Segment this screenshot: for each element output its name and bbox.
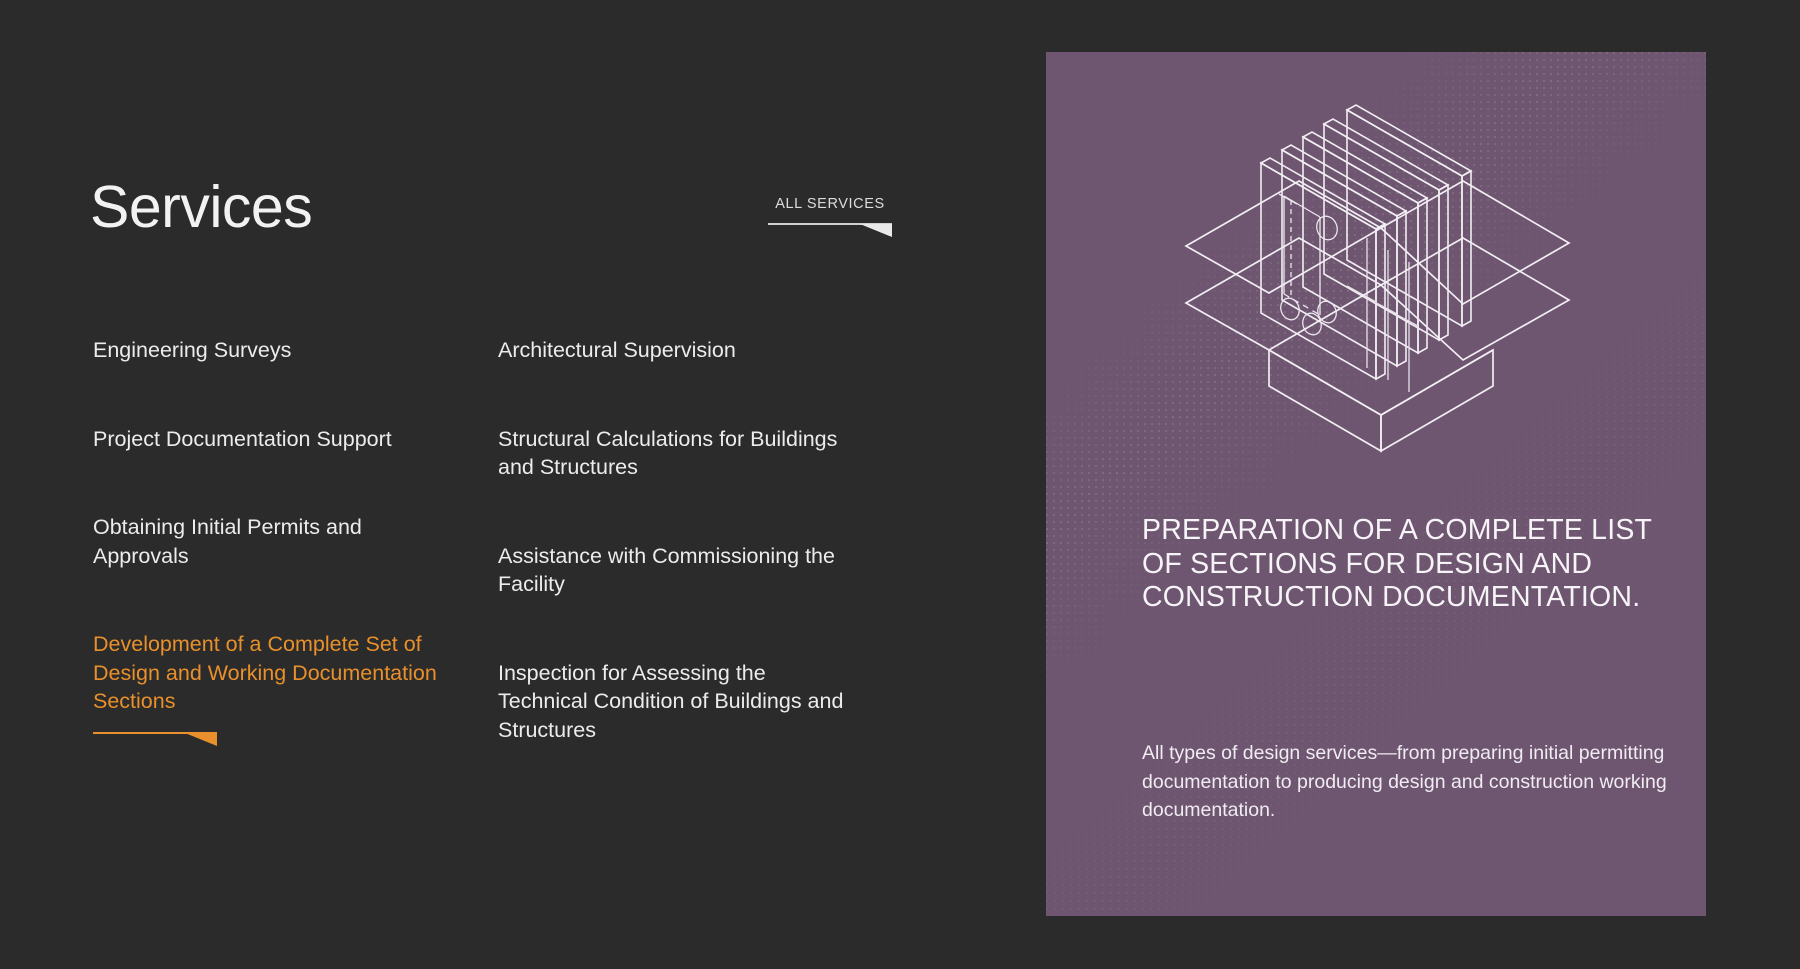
feature-panel: PREPARATION OF A COMPLETE LIST OF SECTIO… [1046,52,1706,916]
services-left-column: Engineering Surveys Project Documentatio… [93,336,498,806]
service-item-development-documentation-sections[interactable]: Development of a Complete Set of Design … [93,630,453,746]
service-label: Obtaining Initial Permits and Approvals [93,513,453,570]
service-label: Structural Calculations for Buildings an… [498,425,858,482]
service-label: Development of a Complete Set of Design … [93,630,453,716]
service-label: Architectural Supervision [498,336,858,365]
service-item-assistance-commissioning[interactable]: Assistance with Commissioning the Facili… [498,542,858,599]
service-item-inspection-technical-condition[interactable]: Inspection for Assessing the Technical C… [498,659,858,745]
service-item-structural-calculations[interactable]: Structural Calculations for Buildings an… [498,425,858,482]
service-item-project-documentation-support[interactable]: Project Documentation Support [93,425,453,454]
panel-heading: PREPARATION OF A COMPLETE LIST OF SECTIO… [1142,514,1687,615]
arrow-right-icon [768,223,892,237]
isometric-open-box-with-documents-icon [1181,68,1571,463]
service-item-engineering-surveys[interactable]: Engineering Surveys [93,336,453,365]
service-item-architectural-supervision[interactable]: Architectural Supervision [498,336,858,365]
active-arrow-right-icon [93,732,217,746]
all-services-label: ALL SERVICES [768,197,892,212]
slide-root: Services ALL SERVICES Engineering Survey… [0,0,1800,969]
service-item-obtaining-initial-permits[interactable]: Obtaining Initial Permits and Approvals [93,513,453,570]
services-list: Engineering Surveys Project Documentatio… [93,336,913,806]
service-label: Assistance with Commissioning the Facili… [498,542,858,599]
panel-body-text: All types of design services—from prepar… [1142,739,1690,825]
service-label: Engineering Surveys [93,336,453,365]
service-label: Project Documentation Support [93,425,453,454]
service-label: Inspection for Assessing the Technical C… [498,659,858,745]
arrow-head [185,733,217,746]
arrow-head [860,224,892,237]
services-right-column: Architectural Supervision Structural Cal… [498,336,903,806]
services-row: Engineering Surveys Project Documentatio… [93,336,913,806]
all-services-link[interactable]: ALL SERVICES [768,197,892,237]
page-title: Services [90,178,312,237]
